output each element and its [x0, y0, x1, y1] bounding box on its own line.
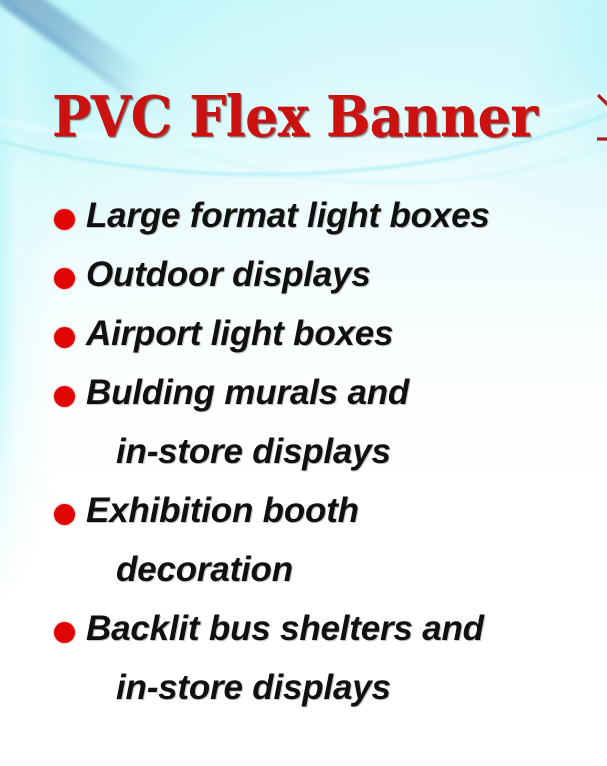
- bullet-dot-icon: [54, 327, 75, 348]
- page-title: PVC Flex Banner: [52, 89, 537, 145]
- bullet-marker-slot: [54, 375, 86, 407]
- list-item-continuation: decoration: [54, 552, 584, 604]
- title-row: PVC Flex Banner: [52, 88, 607, 146]
- list-item: Airport light boxes: [54, 316, 584, 368]
- list-item: Large format light boxes: [54, 198, 584, 250]
- arrow-down-right-icon: [594, 92, 607, 146]
- list-item-label: Large format light boxes: [86, 198, 490, 234]
- list-item-label: Backlit bus shelters and: [86, 611, 484, 647]
- bullet-marker-slot: [54, 257, 86, 289]
- list-item: Exhibition booth: [54, 493, 584, 545]
- bullet-marker-slot: [54, 611, 86, 643]
- list-item: Bulding murals and: [54, 375, 584, 427]
- pvc-flex-banner-poster: PVC Flex Banner Large format light boxes…: [0, 0, 607, 766]
- list-item-label: Bulding murals and: [86, 375, 409, 411]
- bullet-marker-slot: [54, 493, 86, 525]
- list-item-continuation: in-store displays: [54, 434, 584, 486]
- list-item-label: Airport light boxes: [86, 316, 393, 352]
- bullet-dot-icon: [54, 622, 75, 643]
- list-item-continuation: in-store displays: [54, 670, 584, 722]
- list-item-label: in-store displays: [86, 434, 391, 470]
- bullet-marker-slot: [54, 670, 86, 681]
- list-item-label: Exhibition booth: [86, 493, 359, 529]
- list-item-label: Outdoor displays: [86, 257, 371, 293]
- bullet-marker-slot: [54, 552, 86, 563]
- bullet-dot-icon: [54, 209, 75, 230]
- bullet-marker-slot: [54, 198, 86, 230]
- bullet-dot-icon: [54, 504, 75, 525]
- bullet-marker-slot: [54, 434, 86, 445]
- bullet-dot-icon: [54, 268, 75, 289]
- list-item: Backlit bus shelters and: [54, 611, 584, 663]
- list-item-label: in-store displays: [86, 670, 391, 706]
- list-item: Outdoor displays: [54, 257, 584, 309]
- bullet-marker-slot: [54, 316, 86, 348]
- list-item-label: decoration: [86, 552, 293, 588]
- feature-bullet-list: Large format light boxes Outdoor display…: [54, 198, 584, 729]
- bullet-dot-icon: [54, 386, 75, 407]
